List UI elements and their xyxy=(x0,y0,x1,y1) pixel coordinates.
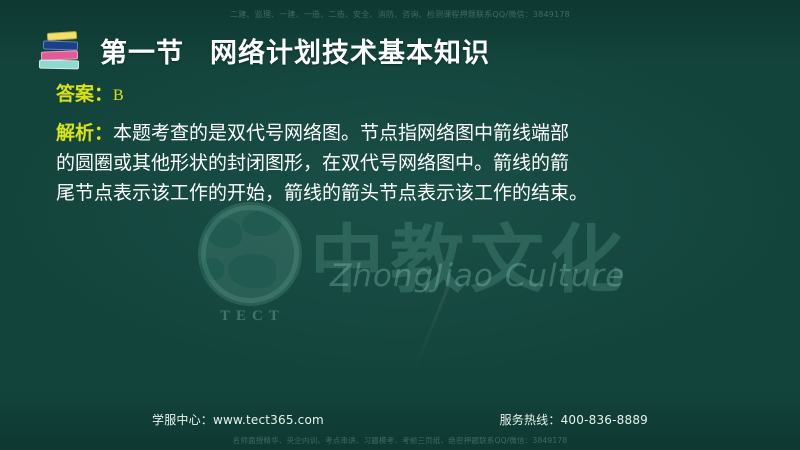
title-section-number: 第一节 xyxy=(100,38,184,69)
analysis-line-1: 解析：本题考查的是双代号网络图。节点指网络图中箭线端部 xyxy=(56,118,756,148)
analysis-label: 解析 xyxy=(56,122,94,144)
footer-service-center: 学服中心：www.tect365.com xyxy=(152,411,324,428)
answer-label: 答案 xyxy=(56,83,94,105)
slide-footer: 学服中心：www.tect365.com 服务热线：400-836-8889 xyxy=(0,411,800,428)
bottom-promo-note: 名师面授精华、央企内训、考点串讲、习题模考、考前三页纸、绝密押题联系QQ/微信：… xyxy=(0,435,800,446)
footer-hotline: 服务热线：400-836-8889 xyxy=(500,411,648,428)
answer-separator: ： xyxy=(94,83,113,105)
analysis-line-2: 的圆圈或其他形状的封闭图形，在双代号网络图中。箭线的箭 xyxy=(56,148,756,178)
watermark-cn-name: 中教文化 xyxy=(310,200,630,307)
stack-of-books-icon xyxy=(36,30,84,70)
analysis-block: 解析：本题考查的是双代号网络图。节点指网络图中箭线端部 的圆圈或其他形状的封闭图… xyxy=(56,118,756,208)
watermark-logo: TECT xyxy=(0,196,800,326)
top-promo-note: 二建、监理、一建、一造、二造、安全、消防、咨询、检测课程押题联系QQ/微信：38… xyxy=(0,9,800,21)
answer-value: B xyxy=(113,87,124,104)
analysis-separator: ： xyxy=(94,122,113,144)
slide-body: 答案：B 解析：本题考查的是双代号网络图。节点指网络图中箭线端部 的圆圈或其他形… xyxy=(56,80,756,208)
watermark-logo-text: TECT xyxy=(220,308,285,325)
analysis-line-3: 尾节点表示该工作的开始，箭线的箭头节点表示该工作的结束。 xyxy=(56,178,756,208)
slide-canvas: TECT 中教文化 ZhongJiao Culture 二建、监理、一建、一造、… xyxy=(0,0,800,450)
answer-row: 答案：B xyxy=(56,80,756,110)
globe-icon xyxy=(198,202,302,306)
title-heading: 网络计划技术基本知识 xyxy=(210,38,490,69)
watermark-en-name: ZhongJiao Culture xyxy=(330,258,625,294)
slide-title-row: 第一节网络计划技术基本知识 xyxy=(36,30,490,70)
page-title: 第一节网络计划技术基本知识 xyxy=(100,31,490,70)
analysis-line-1-text: 本题考查的是双代号网络图。节点指网络图中箭线端部 xyxy=(113,122,569,144)
watermark-streak xyxy=(413,285,450,371)
